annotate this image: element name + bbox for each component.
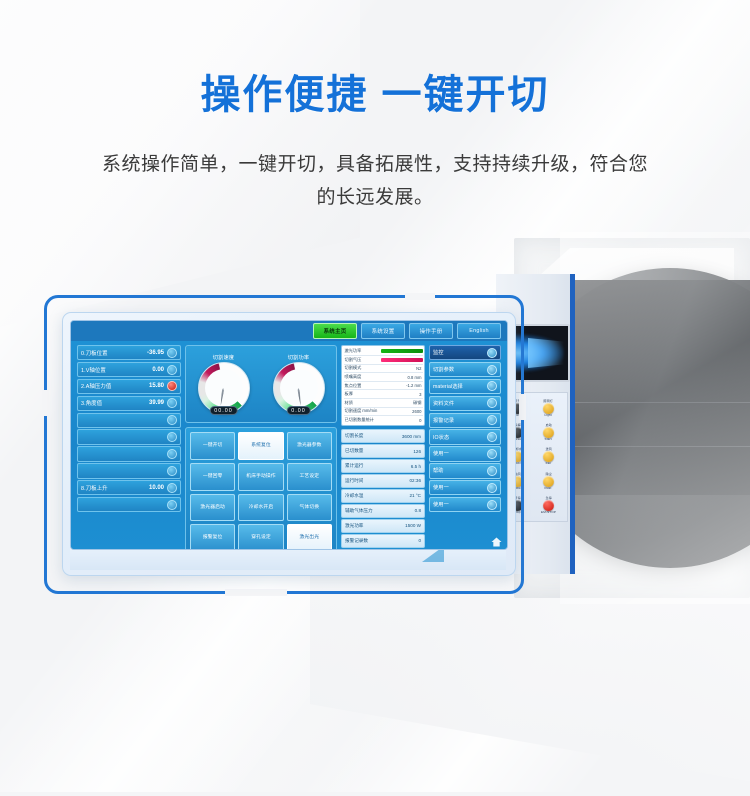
process-param-value: 3 <box>419 392 422 397</box>
process-param-label: 已切割数量统计 <box>344 417 420 423</box>
status-indicator-icon[interactable] <box>167 348 177 358</box>
statistic-label: 累计运行 <box>345 463 411 469</box>
physical-button-top-label: 送风 <box>545 448 551 451</box>
physical-button-cap[interactable] <box>543 403 554 414</box>
menu-item-label: 使用一 <box>433 484 487 491</box>
menu-item-icon <box>487 348 497 358</box>
process-param-value: N2 <box>416 366 422 371</box>
machine-drum-face <box>556 280 750 495</box>
alarm-indicator-icon[interactable] <box>167 381 177 391</box>
menu-item-label: IO状态 <box>433 434 487 441</box>
process-table-row: 已切割数量统计0 <box>344 416 423 424</box>
statistic-value: 02:36 <box>410 478 422 483</box>
hmi-process-table: 激光功率切割气压切割模式N2喷嘴高度0.8 mm焦点位置-1.2 mm板厚3材质… <box>341 345 425 426</box>
statistic-value: 1500 W <box>405 523 421 528</box>
status-indicator-icon[interactable] <box>167 466 177 476</box>
process-level-bar <box>381 349 423 353</box>
physical-button-top-label: 急停 <box>545 497 551 500</box>
menu-item-icon <box>487 483 497 493</box>
callout-nub-right <box>519 394 526 420</box>
hmi-function-button[interactable]: 气体切换 <box>287 494 332 522</box>
hmi-statistics-list: 切割长度3600 mm已切数量126累计运行6.5 h运行时间02:36冷却水温… <box>341 429 425 547</box>
page-headline: 操作便捷 一键开切 <box>0 62 750 120</box>
monitor-glow-streak <box>528 338 564 368</box>
hmi-function-button[interactable]: 激光器参数 <box>287 432 332 460</box>
process-param-label: 激光功率 <box>344 348 381 354</box>
process-table-row: 切割速度 mm/min2600 <box>344 408 423 417</box>
process-param-label: 板厚 <box>344 391 420 397</box>
hmi-menu-item[interactable]: 监控 <box>429 345 501 360</box>
statistic-label: 报警记录数 <box>345 538 418 544</box>
hmi-menu-item[interactable]: material选择 <box>429 379 501 394</box>
process-level-bar <box>381 358 423 362</box>
hmi-menu-item[interactable]: 使用一 <box>429 480 501 495</box>
machine-physical-button[interactable]: 送风Fan <box>533 445 564 469</box>
process-param-label: 切割速度 mm/min <box>344 408 413 414</box>
hmi-function-button-grid[interactable]: 一键开切系统复位激光器参数一键回零机床手动操作工艺设定激光器启动冷却水开启气体切… <box>185 427 337 550</box>
statistic-value: 126 <box>413 449 421 454</box>
statistic-label: 已切数量 <box>345 448 413 454</box>
machine-physical-button[interactable]: 除尘Dust <box>533 469 564 493</box>
process-table-row: 激光功率 <box>344 348 423 357</box>
statistics-list-item[interactable]: 已切数量126 <box>341 444 425 457</box>
hmi-function-button[interactable]: 激光器启动 <box>190 494 235 522</box>
hmi-center-column: 切割速度00.00切割功率0.00 一键开切系统复位激光器参数一键回零机床手动操… <box>185 345 337 543</box>
callout-nub-bottom <box>225 589 287 596</box>
menu-item-icon <box>487 398 497 408</box>
statistics-list-item[interactable]: 切割长度3600 mm <box>341 429 425 442</box>
hmi-function-button[interactable]: 冷却水开启 <box>238 494 283 522</box>
physical-button-bottom-label: EM-STOP <box>541 511 556 514</box>
process-param-label: 喷嘴高度 <box>344 374 408 380</box>
menu-item-label: material选择 <box>433 383 487 390</box>
parameter-label: 0.刀板位置 <box>81 349 147 357</box>
hmi-function-button[interactable]: 机床手动操作 <box>238 463 283 491</box>
menu-item-icon <box>487 466 497 476</box>
statistics-list-item[interactable]: 累计运行6.5 h <box>341 459 425 472</box>
hmi-parameter-row[interactable]: 8.刀板上升10.00 <box>77 480 181 495</box>
process-table-row: 切割气压 <box>344 356 423 365</box>
process-param-value: 0 <box>419 418 422 423</box>
parameter-label: 2.A轴压力值 <box>81 382 149 390</box>
process-param-value: 2600 <box>412 409 422 414</box>
hmi-tab-1[interactable]: 系统设置 <box>361 323 405 339</box>
hmi-function-button[interactable]: 工艺设定 <box>287 463 332 491</box>
menu-item-icon <box>487 415 497 425</box>
hmi-menu-item[interactable]: 使用一 <box>429 497 501 512</box>
physical-button-bottom-label: Fan <box>546 462 552 465</box>
hmi-parameter-row[interactable] <box>77 429 181 444</box>
hmi-parameter-row[interactable]: 3.角度值39.99 <box>77 396 181 411</box>
menu-item-icon <box>487 449 497 459</box>
callout-nub-top <box>405 293 435 300</box>
status-indicator-icon[interactable] <box>167 500 177 510</box>
hmi-gauge-panel: 切割速度00.00切割功率0.00 <box>185 345 337 423</box>
process-param-label: 切割模式 <box>344 365 417 371</box>
hmi-parameter-row[interactable] <box>77 413 181 428</box>
process-table-row: 板厚3 <box>344 390 423 399</box>
hmi-menu-item[interactable]: 使用一 <box>429 446 501 461</box>
statistic-value: 21 °C <box>409 493 421 498</box>
physical-button-bottom-label: Light <box>545 413 553 416</box>
menu-item-label: 使用一 <box>433 450 487 457</box>
hmi-screen[interactable]: 系统主页系统设置操作手册English 0.刀板位置-36.951.V轴位置0.… <box>70 320 508 550</box>
status-indicator-icon[interactable] <box>167 415 177 425</box>
menu-item-icon <box>487 365 497 375</box>
hmi-tab-3[interactable]: English <box>457 323 501 339</box>
physical-button-top-label: 启动 <box>545 424 551 427</box>
hmi-function-button[interactable]: 一键回零 <box>190 463 235 491</box>
physical-button-bottom-label: Dust <box>545 487 552 490</box>
statistic-value: 0.8 <box>415 508 421 513</box>
status-indicator-icon[interactable] <box>167 432 177 442</box>
menu-item-icon <box>487 500 497 510</box>
physical-button-top-label: 照明灯 <box>544 399 554 402</box>
hmi-parameter-row[interactable]: 0.刀板位置-36.95 <box>77 345 181 360</box>
menu-item-label: 切割参数 <box>433 366 487 373</box>
process-param-value: -1.2 mm <box>406 383 422 388</box>
machine-physical-button[interactable]: 急停EM-STOP <box>533 494 564 518</box>
process-param-label: 材质 <box>344 400 414 406</box>
menu-item-label: 资料文件 <box>433 400 487 407</box>
machine-physical-button[interactable]: 启动Start <box>533 420 564 444</box>
process-table-row: 喷嘴高度0.8 mm <box>344 373 423 382</box>
physical-button-cap[interactable] <box>543 500 554 511</box>
parameter-label: 8.刀板上升 <box>81 484 149 492</box>
machine-physical-button[interactable]: 照明灯Light <box>533 396 564 420</box>
hmi-tab-2[interactable]: 操作手册 <box>409 323 453 339</box>
menu-item-icon <box>487 432 497 442</box>
parameter-label: 3.角度值 <box>81 399 149 407</box>
statistic-label: 辅助气体压力 <box>345 508 415 514</box>
hmi-tab-bar[interactable]: 系统主页系统设置操作手册English <box>313 323 501 339</box>
home-icon[interactable] <box>490 536 503 547</box>
parameter-value: 0.00 <box>152 367 164 373</box>
laser-cutting-machine: 电源开启Power照明灯Light急停解除Reset启动Start冷却水Cool… <box>496 232 750 604</box>
hmi-menu-item[interactable]: 报警记录 <box>429 413 501 428</box>
statistics-list-item[interactable]: 报警记录数0 <box>341 534 425 547</box>
parameter-label: 1.V轴位置 <box>81 366 152 374</box>
hmi-parameter-row[interactable]: 1.V轴位置0.00 <box>77 362 181 377</box>
hmi-bezel-chin <box>70 548 506 570</box>
process-param-value: 碳钢 <box>413 400 422 406</box>
statistics-list-item[interactable]: 冷却水温21 °C <box>341 489 425 502</box>
statistics-list-item[interactable]: 辅助气体压力0.8 <box>341 504 425 517</box>
hmi-tab-0[interactable]: 系统主页 <box>313 323 357 339</box>
physical-button-bottom-label: Start <box>545 438 552 441</box>
hmi-function-button[interactable]: 系统复位 <box>238 432 283 460</box>
hmi-function-button[interactable]: 一键开切 <box>190 432 235 460</box>
hmi-function-button[interactable]: 报警复位 <box>190 524 235 550</box>
hmi-parameter-row[interactable] <box>77 446 181 461</box>
hmi-parameter-column: 0.刀板位置-36.951.V轴位置0.002.A轴压力值15.803.角度值3… <box>77 345 181 543</box>
hmi-gauge: 切割功率0.00 <box>271 354 327 414</box>
parameter-value: 39.99 <box>149 400 164 406</box>
statistic-label: 切割长度 <box>345 433 402 439</box>
status-indicator-icon[interactable] <box>167 365 177 375</box>
callout-nub-left <box>42 390 49 416</box>
physical-button-cap[interactable] <box>543 476 554 487</box>
menu-item-label: 监控 <box>433 349 487 356</box>
statistic-value: 6.5 h <box>411 464 421 469</box>
hmi-function-button[interactable]: 穿孔设定 <box>238 524 283 550</box>
menu-item-label: 帮助 <box>433 467 487 474</box>
hmi-parameter-row[interactable] <box>77 463 181 478</box>
process-param-label: 焦点位置 <box>344 383 407 389</box>
process-param-value: 0.8 mm <box>408 375 423 380</box>
home-glyph <box>491 537 502 547</box>
statistic-label: 运行时间 <box>345 478 410 484</box>
parameter-value: 15.80 <box>149 383 164 389</box>
hmi-parameter-row[interactable]: 2.A轴压力值15.80 <box>77 379 181 394</box>
gauge-title: 切割功率 <box>271 354 327 361</box>
statistics-list-item[interactable]: 激光功率1500 W <box>341 519 425 532</box>
physical-button-top-label: 除尘 <box>545 473 551 476</box>
hmi-content: 系统主页系统设置操作手册English 0.刀板位置-36.951.V轴位置0.… <box>71 321 507 549</box>
process-table-row: 切割模式N2 <box>344 365 423 374</box>
hmi-function-button[interactable]: 激光出光 <box>287 524 332 550</box>
hmi-gauge: 切割速度00.00 <box>196 354 252 414</box>
hmi-menu-item[interactable]: 资料文件 <box>429 396 501 411</box>
gauge-readout: 00.00 <box>209 406 238 415</box>
statistic-value: 0 <box>418 538 421 543</box>
status-indicator-icon[interactable] <box>167 398 177 408</box>
statistic-label: 激光功率 <box>345 523 405 529</box>
hmi-menu-item[interactable]: 切割参数 <box>429 362 501 377</box>
gauge-readout: 0.00 <box>286 406 311 415</box>
process-param-label: 切割气压 <box>344 357 381 363</box>
physical-button-cap[interactable] <box>543 427 554 438</box>
statistic-label: 冷却水温 <box>345 493 409 499</box>
page-subtitle: 系统操作简单，一键开切，具备拓展性，支持持续升级，符合您的长远发展。 <box>95 148 655 214</box>
parameter-value: 10.00 <box>149 485 164 491</box>
process-table-row: 焦点位置-1.2 mm <box>344 382 423 391</box>
menu-item-icon <box>487 381 497 391</box>
statistics-list-item[interactable]: 运行时间02:36 <box>341 474 425 487</box>
gauge-needle <box>297 388 302 406</box>
hmi-menu-item[interactable]: 帮助 <box>429 463 501 478</box>
hmi-parameter-row[interactable] <box>77 497 181 512</box>
menu-item-label: 报警记录 <box>433 417 487 424</box>
gauge-title: 切割速度 <box>196 354 252 361</box>
status-indicator-icon[interactable] <box>167 449 177 459</box>
menu-item-label: 使用一 <box>433 501 487 508</box>
parameter-value: -36.95 <box>147 350 164 356</box>
gauge-needle <box>220 388 225 406</box>
hmi-data-column: 激光功率切割气压切割模式N2喷嘴高度0.8 mm焦点位置-1.2 mm板厚3材质… <box>341 345 425 543</box>
process-table-row: 材质碳钢 <box>344 399 423 408</box>
status-indicator-icon[interactable] <box>167 483 177 493</box>
hmi-menu-column[interactable]: 监控切割参数material选择资料文件报警记录IO状态使用一帮助使用一使用一 <box>429 345 501 543</box>
hmi-menu-item[interactable]: IO状态 <box>429 429 501 444</box>
statistic-value: 3600 mm <box>402 434 421 439</box>
